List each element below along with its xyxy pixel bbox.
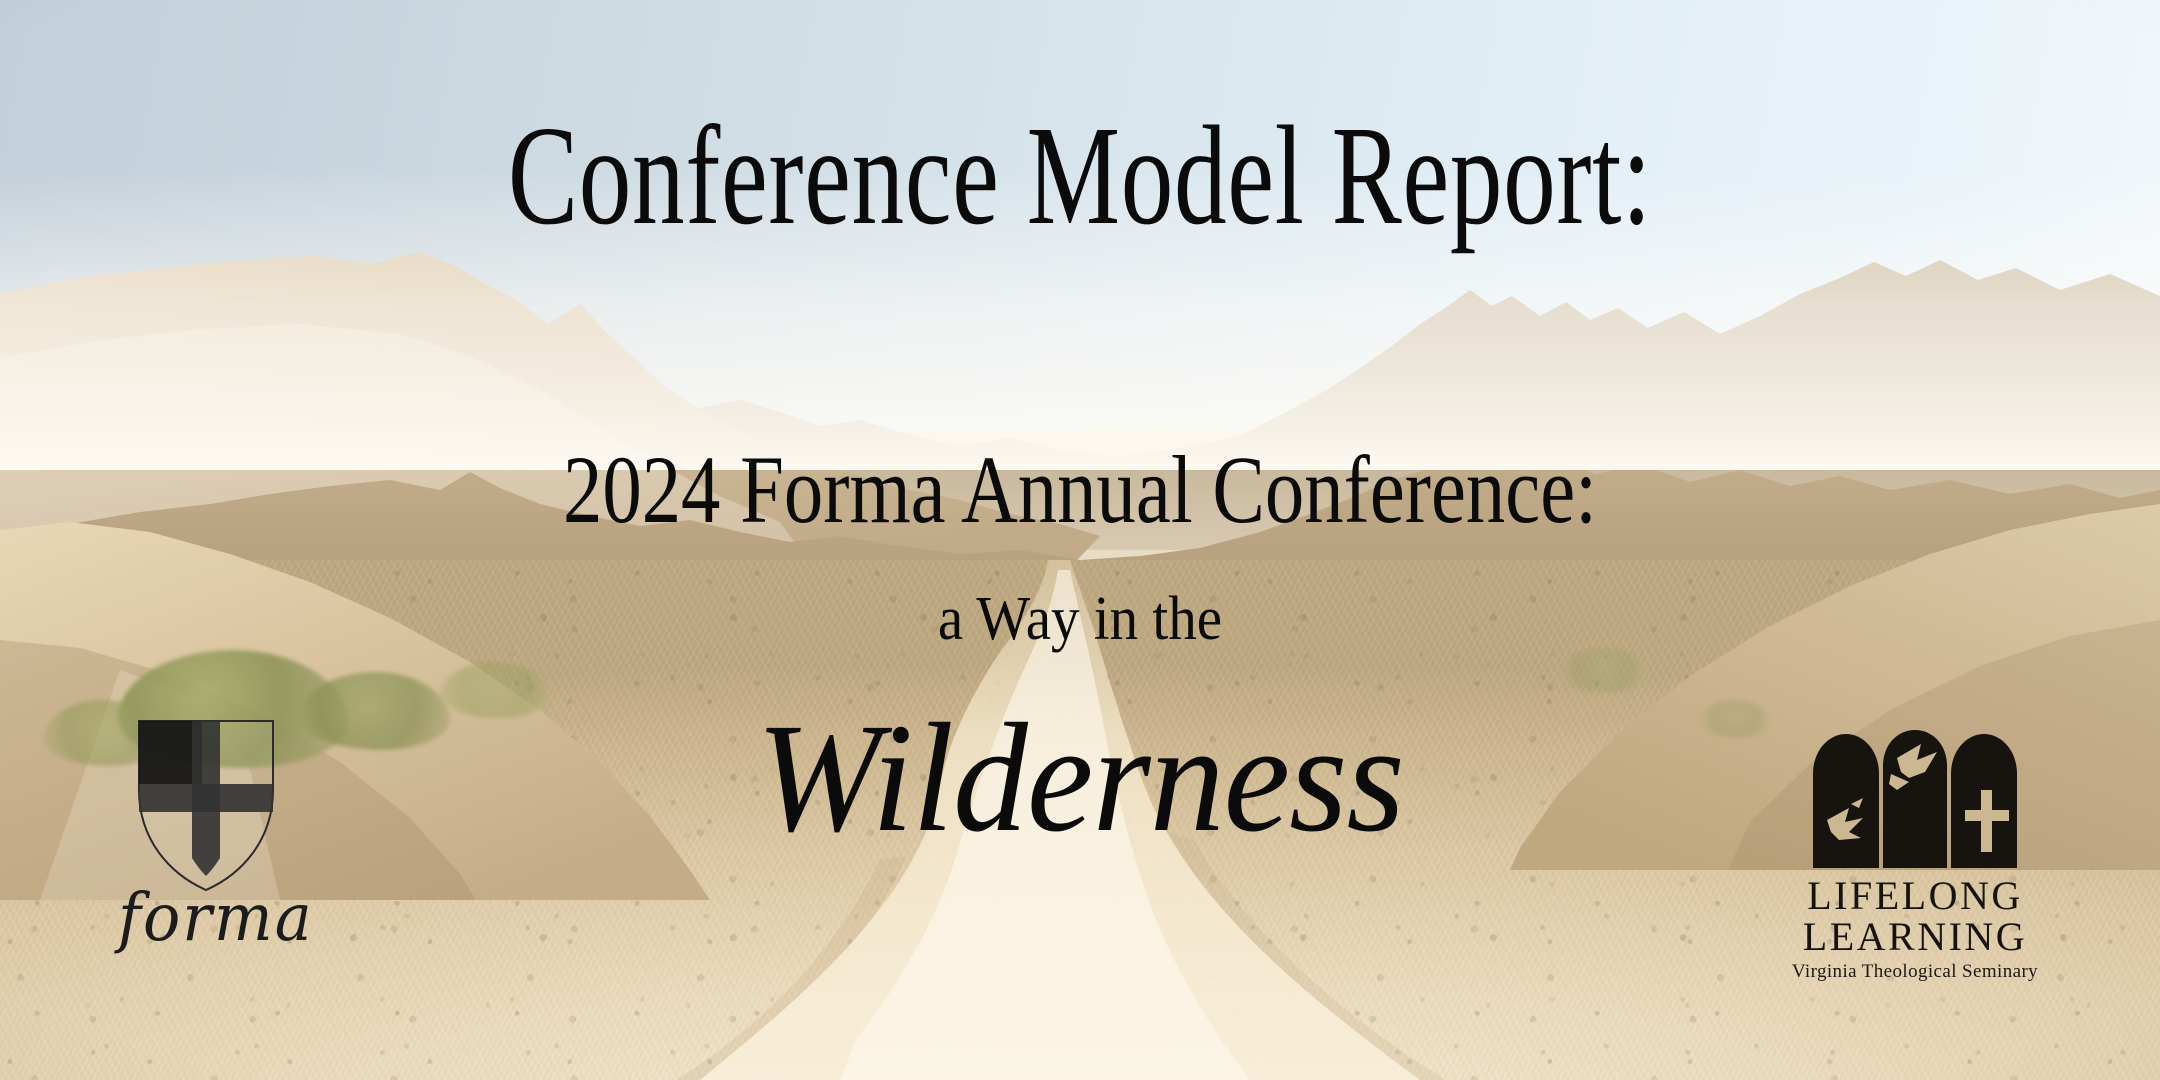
vts-lifelong-learning-logo[interactable]: LIFELONG LEARNING Virginia Theological S… (1790, 728, 2040, 982)
page-title: Conference Model Report: (281, 104, 1879, 246)
event-subtitle: 2024 Forma Annual Conference: (194, 442, 1965, 538)
three-gothic-arches-icon (1805, 728, 2025, 868)
theme-prefix: a Way in the (86, 588, 2073, 650)
episcopal-shield-cross-icon (136, 718, 276, 893)
poster-canvas: Conference Model Report: 2024 Forma Annu… (0, 0, 2160, 1080)
vts-line-2: LEARNING (1790, 917, 2040, 958)
vts-line-1: LIFELONG (1790, 876, 2040, 917)
forma-logo[interactable]: forma (118, 718, 293, 949)
forma-wordmark: forma (118, 885, 293, 950)
vts-subtitle: Virginia Theological Seminary (1790, 962, 2040, 983)
